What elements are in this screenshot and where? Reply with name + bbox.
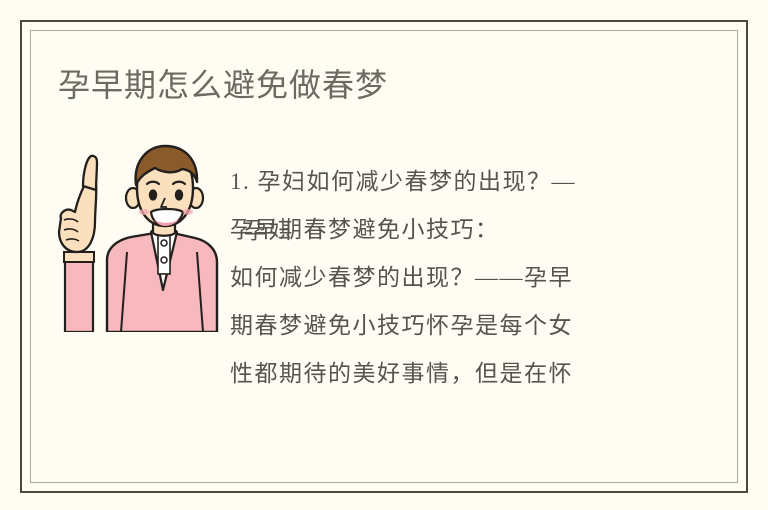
article-line: 性都期待的美好事情，但是在怀 (230, 350, 648, 398)
man-pointing-up-illustration (55, 140, 230, 332)
article-body: 1. 孕妇如何减少春梦的出现？— 孕早期春梦避免小技巧： 孕妇 如何减少春梦的出… (230, 158, 648, 398)
article-line-overprinted: 孕早期春梦避免小技巧： 孕妇 (230, 206, 648, 254)
article-line-overprint-text: 孕妇 (244, 207, 293, 255)
illustration-container (55, 140, 230, 332)
article-line: 如何减少春梦的出现？——孕早 (230, 254, 648, 302)
page-title: 孕早期怎么避免做春梦 (58, 62, 388, 108)
article-line: 1. 孕妇如何减少春梦的出现？— (230, 158, 648, 206)
article-line: 期春梦避免小技巧怀孕是每个女 (230, 302, 648, 350)
pointing-hand (59, 156, 97, 332)
page-root: 孕早期怎么避免做春梦 (0, 0, 768, 510)
